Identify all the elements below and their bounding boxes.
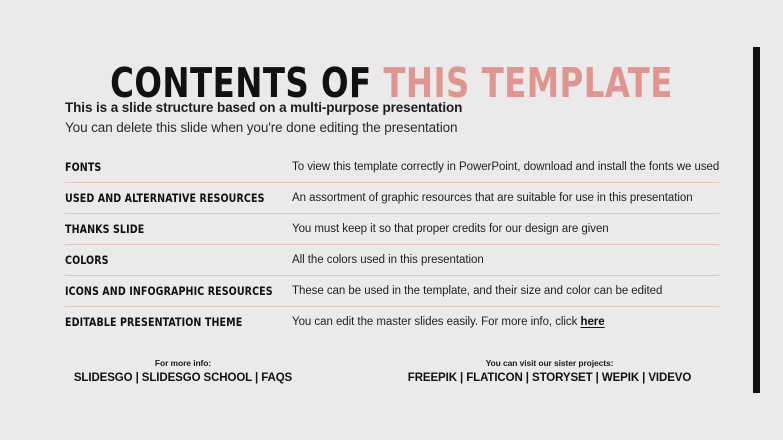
table-row[interactable]: COLORS All the colors used in this prese… [65,244,719,275]
slide-canvas: CONTENTS OF THIS TEMPLATE This is a slid… [0,0,783,440]
footer-heading-sister-projects: You can visit our sister projects: [366,358,733,369]
row-label: USED AND ALTERNATIVE RESOURCES [65,191,274,205]
subtitle-strong: This is a slide structure based on a mul… [65,99,705,117]
table-row[interactable]: ICONS AND INFOGRAPHIC RESOURCES These ca… [65,275,719,306]
subtitle-light: You can delete this slide when you're do… [65,118,705,137]
here-link[interactable]: here [580,316,604,328]
row-label: EDITABLE PRESENTATION THEME [65,315,274,329]
footer-column-more-info: For more info: SLIDESGO | SLIDESGO SCHOO… [0,358,366,386]
row-label: COLORS [65,253,274,267]
footer-links-sister-projects[interactable]: FREEPIK | FLATICON | STORYSET | WEPIK | … [366,371,733,386]
row-description: All the colors used in this presentation [292,254,719,266]
row-label: ICONS AND INFOGRAPHIC RESOURCES [65,284,274,298]
footer-column-sister-projects: You can visit our sister projects: FREEP… [366,358,733,386]
contents-table: FONTS To view this template correctly in… [65,152,719,337]
footer: For more info: SLIDESGO | SLIDESGO SCHOO… [0,358,733,386]
row-description: You must keep it so that proper credits … [292,223,719,235]
row-description: An assortment of graphic resources that … [292,192,719,204]
row-description: These can be used in the template, and t… [292,285,719,297]
subtitle-block: This is a slide structure based on a mul… [65,99,705,137]
row-description-text: You can edit the master slides easily. F… [292,316,580,328]
table-row[interactable]: USED AND ALTERNATIVE RESOURCES An assort… [65,182,719,213]
right-accent-bar [753,47,760,393]
row-description: To view this template correctly in Power… [292,161,719,173]
footer-heading-more-info: For more info: [0,358,366,369]
row-label: THANKS SLIDE [65,222,274,236]
table-row[interactable]: THANKS SLIDE You must keep it so that pr… [65,213,719,244]
table-row[interactable]: EDITABLE PRESENTATION THEME You can edit… [65,306,719,337]
table-row[interactable]: FONTS To view this template correctly in… [65,152,719,182]
row-label: FONTS [65,160,274,174]
footer-links-more-info[interactable]: SLIDESGO | SLIDESGO SCHOOL | FAQS [0,371,366,386]
row-description: You can edit the master slides easily. F… [292,316,719,328]
